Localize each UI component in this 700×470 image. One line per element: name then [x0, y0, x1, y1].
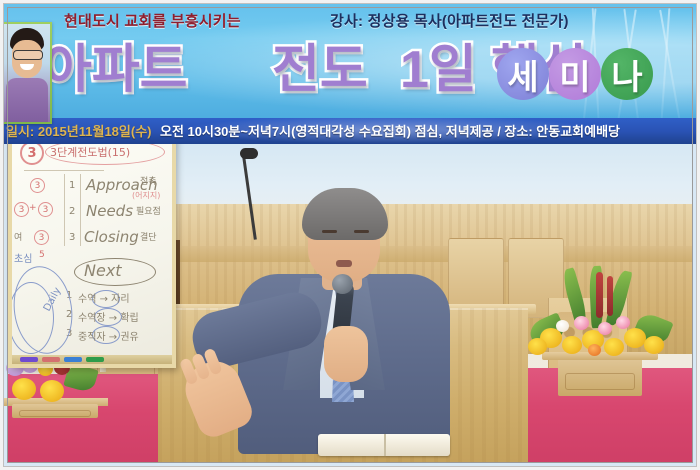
step-note: (어지지): [132, 190, 160, 201]
next-label: Next: [84, 261, 122, 280]
flower-stand: [558, 358, 642, 396]
divider: [64, 174, 65, 246]
flower-arrangement-right: [512, 266, 692, 396]
orange-flower: [588, 344, 601, 356]
stand-microphone-head: [240, 148, 258, 159]
white-flower: [556, 320, 569, 332]
step-index: 2: [69, 206, 75, 217]
yellow-flower: [604, 338, 624, 356]
marker-tray: [12, 355, 172, 364]
next-item-text: 수역장 → 확립: [78, 309, 139, 324]
next-item-text: 수역 → 자리: [78, 290, 130, 305]
divider: [80, 174, 81, 246]
step-korean: 결단: [140, 230, 157, 243]
pink-flower: [598, 322, 612, 335]
banner-tagline: 현대도시 교회를 부흥시키는: [64, 10, 241, 31]
banner-circle-word-1: 세: [497, 48, 549, 100]
side-note: 초심: [14, 250, 32, 265]
step-korean: 접촉: [140, 174, 157, 187]
portrait-shirt: [6, 78, 48, 122]
flower-stand: [12, 404, 98, 418]
event-details-text: 오전 10시30분~저녁7시(영적대각성 수요집회) 점심, 저녁제공 / 장소…: [160, 121, 620, 140]
speaker-portrait-photo: [2, 22, 52, 124]
banner-headline-word-2: 전도: [272, 44, 368, 96]
whiteboard-subnumber: 3: [14, 202, 29, 217]
next-item-text: 중직자 → 권유: [78, 328, 139, 343]
side-note: 5: [39, 250, 45, 260]
whiteboard-subnumber: 3: [34, 230, 49, 245]
divider: [24, 170, 104, 171]
preacher-figure: [196, 186, 496, 454]
yellow-flower: [624, 328, 646, 348]
whiteboard-subnumber: 3: [30, 178, 45, 193]
microphone-head-icon: [332, 274, 353, 294]
plus-sign: +: [29, 203, 37, 213]
whiteboard-subnumber: 3: [38, 202, 53, 217]
glasses-icon: [13, 50, 43, 60]
red-spike-flower: [607, 276, 613, 316]
event-banner: 현대도시 교회를 부흥시키는 강사: 정상용 목사(아파트전도 전문가) 아파트…: [0, 0, 700, 128]
pink-flower: [616, 316, 630, 329]
open-bible: [318, 434, 450, 456]
banner-circle-word-2: 미: [549, 48, 601, 100]
whiteboard: 3 3단계전도법(15) 3 3 3 3 + 1 Approach 접촉 (어지…: [8, 130, 176, 368]
eye-left: [322, 230, 337, 233]
hand-holding-microphone: [324, 326, 368, 382]
banner-circle-word-3: 나: [601, 48, 653, 100]
whiteboard-heading-text: 3단계전도법(15): [50, 144, 130, 160]
step-term: Needs: [86, 202, 133, 220]
yellow-flower: [528, 338, 547, 355]
yellow-flower: [12, 378, 36, 400]
portrait-face: [4, 24, 50, 122]
yellow-flower: [40, 380, 64, 402]
yellow-flower: [562, 336, 582, 354]
eye-right: [354, 230, 369, 233]
side-note: 여: [14, 230, 22, 243]
red-spike-flower: [596, 272, 603, 318]
yellow-flower: [644, 336, 664, 354]
step-korean: 필요점: [136, 204, 161, 217]
step-term: Closing: [84, 228, 139, 246]
step-index: 3: [69, 232, 75, 243]
pink-flower: [574, 316, 589, 330]
whiteboard-heading-number: 3: [20, 141, 44, 165]
mouth: [336, 260, 352, 267]
banner-speaker-credit: 강사: 정상용 목사(아파트전도 전문가): [330, 10, 569, 31]
screenshot-photo: 3 3단계전도법(15) 3 3 3 3 + 1 Approach 접촉 (어지…: [0, 0, 700, 470]
event-info-strip: 일시: 2015년11월18일(수) 오전 10시30분~저녁7시(영적대각성 …: [0, 118, 700, 144]
hair: [302, 188, 388, 240]
banner-headline-word-1: 아파트: [44, 44, 188, 96]
step-index: 1: [69, 180, 75, 191]
